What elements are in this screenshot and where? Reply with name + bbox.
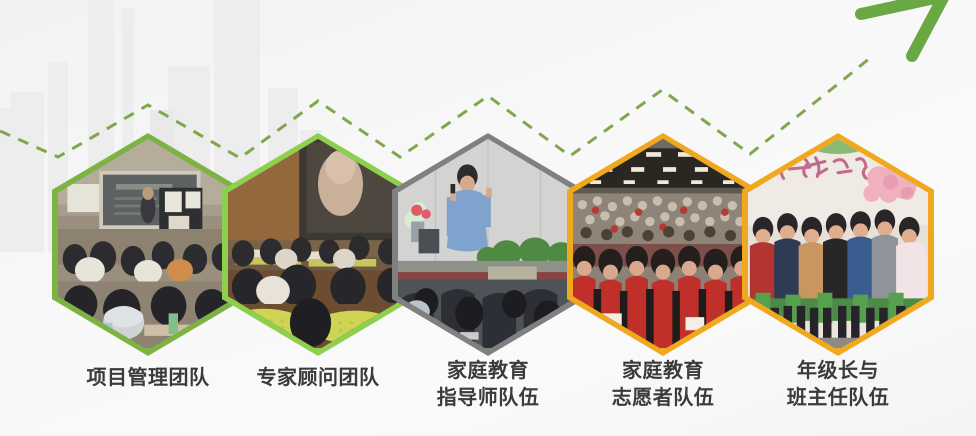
hexagon-item-1[interactable] — [52, 133, 244, 356]
infographic-canvas: 项目管理团队 专家顾问团队 家庭教育 指导师队伍 家庭教育 志愿者队伍 年级长与… — [0, 0, 976, 436]
hexagon-item-2[interactable] — [222, 133, 414, 356]
hexagon-item-4[interactable] — [567, 133, 759, 356]
hexagon-item-3[interactable] — [392, 133, 584, 356]
hexagon-label-5: 年级长与 班主任队伍 — [728, 357, 948, 411]
hexagon-item-5[interactable] — [742, 133, 934, 356]
